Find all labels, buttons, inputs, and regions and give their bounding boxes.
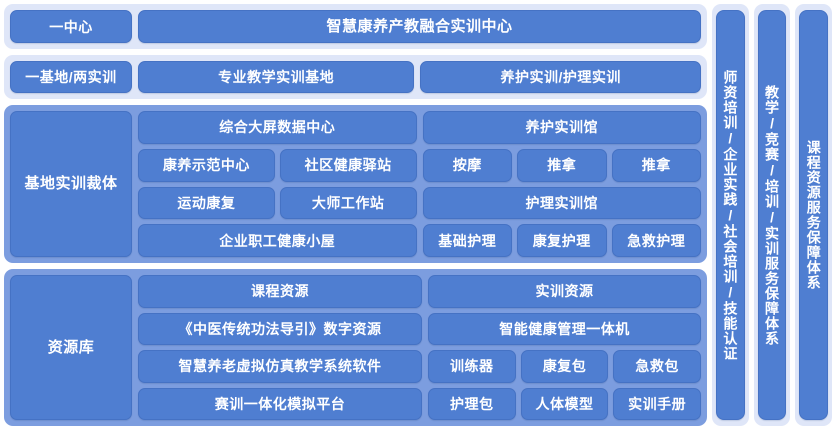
resource-left-item-1[interactable]: 智慧养老虚拟仿真教学系统软件 <box>138 350 422 383</box>
resource-right-item-1-2[interactable]: 急救包 <box>613 350 701 383</box>
resource-left-item-row-1: 智慧养老虚拟仿真教学系统软件 <box>138 350 422 383</box>
resource-right-column: 实训资源 智能健康管理一体机 训练器 康复包 急救包 护理包 人体模型 实训手册 <box>428 275 701 420</box>
carrier-left-item-0-0[interactable]: 康养示范中心 <box>138 149 275 182</box>
section-base-label[interactable]: 一基地/两实训 <box>10 61 132 93</box>
resource-left-item-row-0: 《中医传统功法导引》数字资源 <box>138 313 422 346</box>
main-sections-stack: 一中心 智慧康养产教融合实训中心 一基地/两实训 专业教学实训基地 养护实训/护… <box>4 4 707 426</box>
base-item-1[interactable]: 养护实训/护理实训 <box>420 61 701 93</box>
resource-right-triple-row-2: 护理包 人体模型 实训手册 <box>428 388 701 421</box>
carrier-left-footer[interactable]: 企业职工健康小屋 <box>138 224 417 257</box>
carrier-right-item-2-0[interactable]: 基础护理 <box>423 224 513 257</box>
resource-right-item-2-0[interactable]: 护理包 <box>428 388 516 421</box>
resource-right-triple-row-1: 训练器 康复包 急救包 <box>428 350 701 383</box>
resource-right-header-row: 实训资源 <box>428 275 701 308</box>
vertical-support-columns: 师资培训/企业实践/社会培训/技能认证 教学/竞赛/培训/实训服务保障体系 课程… <box>712 4 832 426</box>
vertical-column-label-1[interactable]: 教学/竞赛/培训/实训服务保障体系 <box>758 10 787 420</box>
carrier-left-column: 综合大屏数据中心 康养示范中心 社区健康驿站 运动康复 大师工作站 企业职工健康… <box>138 111 417 257</box>
carrier-left-item-1-1[interactable]: 大师工作站 <box>280 187 417 220</box>
carrier-right-header-row-1: 养护实训馆 <box>423 111 702 144</box>
carrier-left-header-row: 综合大屏数据中心 <box>138 111 417 144</box>
section-center: 一中心 智慧康养产教融合实训中心 <box>4 4 707 49</box>
resource-right-item-1-0[interactable]: 训练器 <box>428 350 516 383</box>
vertical-column-label-2[interactable]: 课程资源服务保障体系 <box>799 10 828 420</box>
architecture-diagram: 一中心 智慧康养产教融合实训中心 一基地/两实训 专业教学实训基地 养护实训/护… <box>0 0 836 430</box>
carrier-right-header-1[interactable]: 养护实训馆 <box>423 111 702 144</box>
carrier-left-pair-row-0: 康养示范中心 社区健康驿站 <box>138 149 417 182</box>
carrier-left-header[interactable]: 综合大屏数据中心 <box>138 111 417 144</box>
section-resource-label[interactable]: 资源库 <box>10 275 132 420</box>
resource-left-header-row: 课程资源 <box>138 275 422 308</box>
section-carrier-label[interactable]: 基地实训裁体 <box>10 111 132 257</box>
carrier-right-item-2-2[interactable]: 急救护理 <box>612 224 702 257</box>
vertical-column-0: 师资培训/企业实践/社会培训/技能认证 <box>712 4 749 426</box>
carrier-right-item-1-0[interactable]: 按摩 <box>423 149 513 182</box>
section-center-label[interactable]: 一中心 <box>10 10 132 43</box>
carrier-right-item-1-1[interactable]: 推拿 <box>517 149 607 182</box>
resource-left-column: 课程资源 《中医传统功法导引》数字资源 智慧养老虚拟仿真教学系统软件 赛训一体化… <box>138 275 422 420</box>
vertical-column-2: 课程资源服务保障体系 <box>795 4 832 426</box>
carrier-left-footer-row: 企业职工健康小屋 <box>138 224 417 257</box>
carrier-right-triple-row-1: 按摩 推拿 推拿 <box>423 149 702 182</box>
section-resource: 资源库 课程资源 《中医传统功法导引》数字资源 智慧养老虚拟仿真教学系统软件 赛… <box>4 269 707 426</box>
carrier-right-header-2[interactable]: 护理实训馆 <box>423 187 702 220</box>
resource-right-header[interactable]: 实训资源 <box>428 275 701 308</box>
resource-grid: 课程资源 《中医传统功法导引》数字资源 智慧养老虚拟仿真教学系统软件 赛训一体化… <box>138 275 701 420</box>
section-base: 一基地/两实训 专业教学实训基地 养护实训/护理实训 <box>4 55 707 99</box>
carrier-grid: 综合大屏数据中心 康养示范中心 社区健康驿站 运动康复 大师工作站 企业职工健康… <box>138 111 701 257</box>
carrier-left-pair-row-1: 运动康复 大师工作站 <box>138 187 417 220</box>
resource-right-item-2-1[interactable]: 人体模型 <box>521 388 609 421</box>
carrier-right-item-1-2[interactable]: 推拿 <box>612 149 702 182</box>
base-item-0[interactable]: 专业教学实训基地 <box>138 61 414 93</box>
carrier-left-item-1-0[interactable]: 运动康复 <box>138 187 275 220</box>
carrier-right-triple-row-2: 基础护理 康复护理 急救护理 <box>423 224 702 257</box>
resource-right-wide-row: 智能健康管理一体机 <box>428 313 701 346</box>
resource-right-item-2-2[interactable]: 实训手册 <box>613 388 701 421</box>
carrier-left-item-0-1[interactable]: 社区健康驿站 <box>280 149 417 182</box>
resource-left-item-row-2: 赛训一体化模拟平台 <box>138 388 422 421</box>
carrier-right-header-row-2: 护理实训馆 <box>423 187 702 220</box>
section-center-title[interactable]: 智慧康养产教融合实训中心 <box>138 10 701 43</box>
vertical-column-1: 教学/竞赛/培训/实训服务保障体系 <box>754 4 791 426</box>
resource-left-item-0[interactable]: 《中医传统功法导引》数字资源 <box>138 313 422 346</box>
resource-left-header[interactable]: 课程资源 <box>138 275 422 308</box>
vertical-column-label-0[interactable]: 师资培训/企业实践/社会培训/技能认证 <box>716 10 745 420</box>
carrier-right-item-2-1[interactable]: 康复护理 <box>517 224 607 257</box>
resource-right-wide-item[interactable]: 智能健康管理一体机 <box>428 313 701 346</box>
resource-left-item-2[interactable]: 赛训一体化模拟平台 <box>138 388 422 421</box>
section-carrier: 基地实训裁体 综合大屏数据中心 康养示范中心 社区健康驿站 运动康复 大师工作站 <box>4 105 707 263</box>
resource-right-item-1-1[interactable]: 康复包 <box>521 350 609 383</box>
carrier-right-column: 养护实训馆 按摩 推拿 推拿 护理实训馆 基础护理 康复护理 急救护理 <box>423 111 702 257</box>
